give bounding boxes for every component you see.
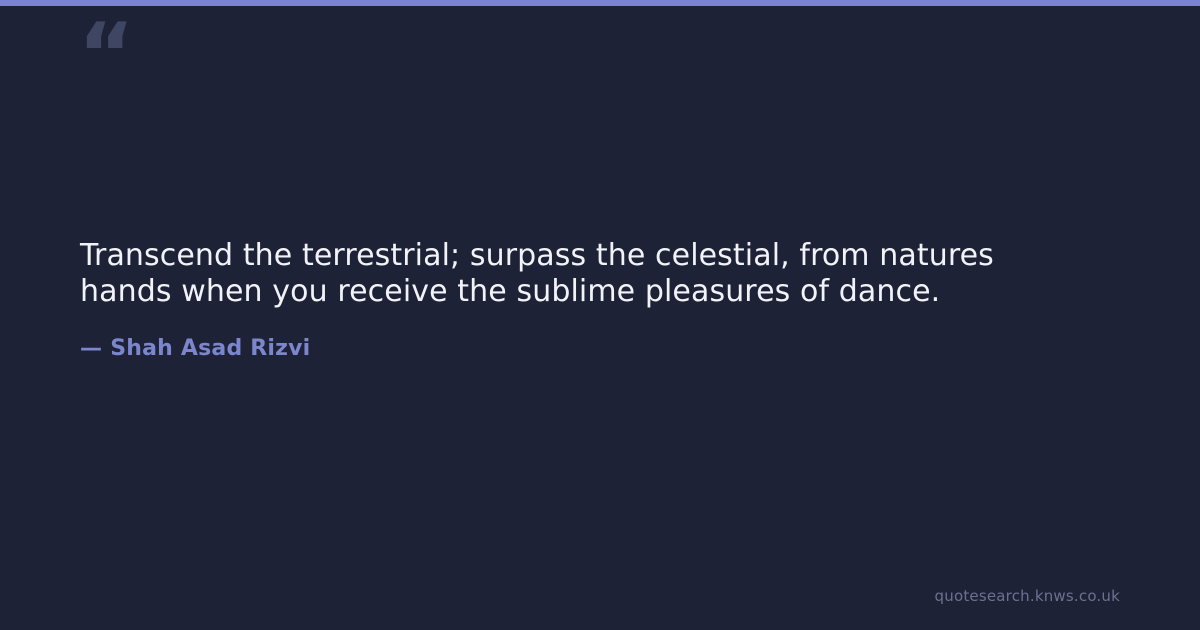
quotation-mark-icon: “	[78, 12, 133, 98]
attribution-author: Shah Asad Rizvi	[110, 336, 310, 361]
quote-text: Transcend the terrestrial; surpass the c…	[80, 238, 1080, 310]
site-watermark: quotesearch.knws.co.uk	[935, 587, 1120, 605]
quote-card: “ Transcend the terrestrial; surpass the…	[0, 0, 1200, 630]
top-accent-bar	[0, 0, 1200, 6]
quote-attribution: —Shah Asad Rizvi	[80, 336, 1120, 361]
attribution-dash: —	[80, 336, 102, 361]
quote-content: Transcend the terrestrial; surpass the c…	[80, 238, 1120, 361]
